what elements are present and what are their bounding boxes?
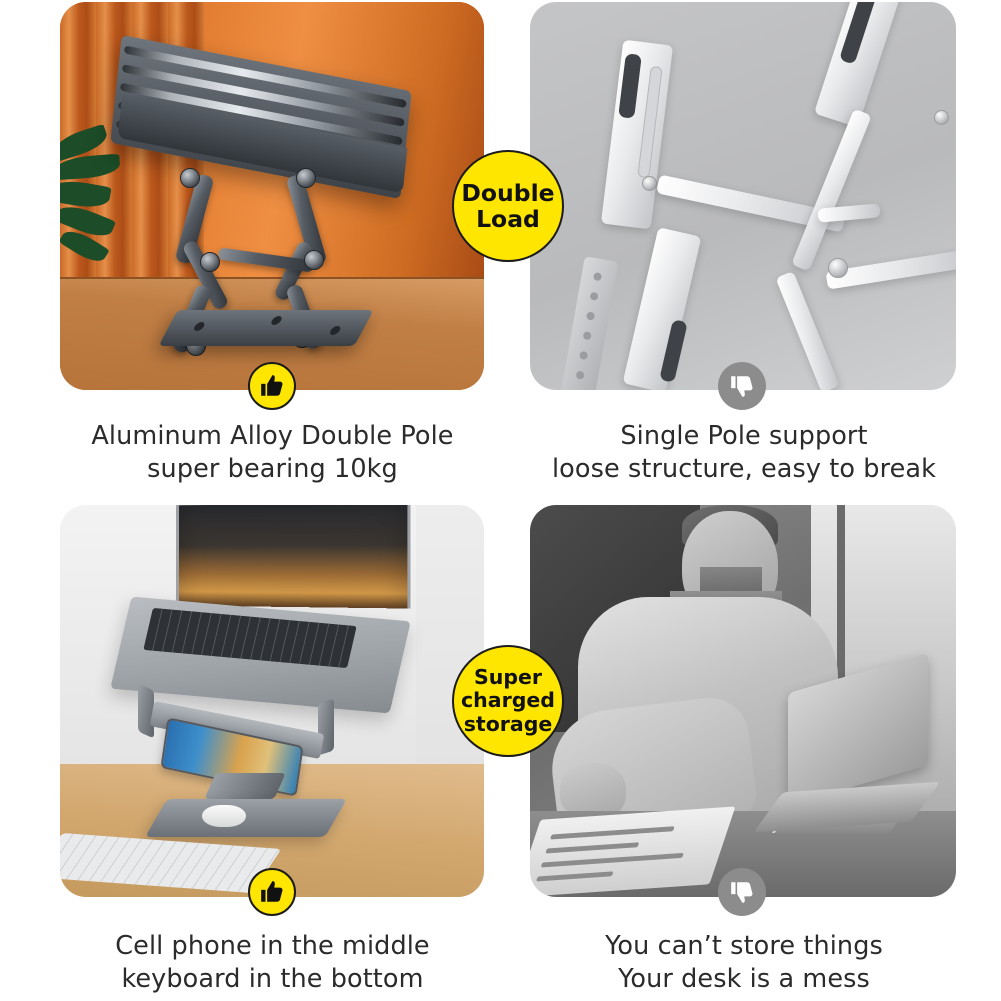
badge-double-load[interactable]: Double Load (452, 150, 564, 262)
photo-single-pole-stand-closeup (530, 2, 956, 390)
panel-bottom-left[interactable] (60, 505, 484, 897)
badge-storage-line1: Super (474, 665, 542, 689)
scattered-papers (530, 806, 735, 897)
caption-bottom-right-line1: You can’t store things (520, 930, 968, 963)
thumbs-down-icon[interactable] (718, 868, 766, 916)
thumbs-up-icon[interactable] (248, 868, 296, 916)
panel-top-right[interactable] (530, 2, 956, 390)
single-pole-diagonal-arm-right (791, 109, 872, 272)
thumbs-down-icon[interactable] (718, 362, 766, 410)
stand-hinge-top-right (296, 168, 316, 188)
badge-double-load-line2: Load (476, 205, 540, 233)
caption-top-right: Single Pole support loose structure, eas… (520, 420, 968, 485)
panel-bottom-right[interactable] (530, 505, 956, 897)
single-pole-pivot-pin-upper (642, 176, 657, 191)
photo-man-at-messy-desk (530, 505, 956, 897)
single-pole-leg-lower-right (775, 271, 839, 390)
caption-bottom-left: Cell phone in the middle keyboard in the… (50, 930, 495, 995)
caption-bottom-right-line2: Your desk is a mess (520, 963, 968, 996)
stand-lower-column (204, 773, 286, 799)
laptop-screen (176, 505, 410, 609)
caption-top-right-line1: Single Pole support (520, 420, 968, 453)
photo-plant (60, 128, 130, 278)
caption-top-right-line2: loose structure, easy to break (520, 453, 968, 486)
badge-double-load-line1: Double (461, 179, 554, 207)
photo-laptop-stand-with-phone-and-keyboard (60, 505, 484, 897)
single-pole-pivot-pin-upper-right (934, 110, 949, 125)
caption-bottom-right: You can’t store things Your desk is a me… (520, 930, 968, 995)
caption-top-left-line2: super bearing 10kg (50, 453, 495, 486)
infographic-board: Double Load Super charged storage (0, 0, 1001, 1001)
caption-bottom-left-line1: Cell phone in the middle (50, 930, 495, 963)
stand-hinge-mid-left (200, 252, 220, 272)
stand-base-plate (158, 310, 373, 346)
stand-base-plate (145, 799, 347, 837)
stand-hinge-top-left (180, 168, 200, 188)
single-pole-height-rail (560, 256, 619, 390)
photo-aluminum-double-pole-stand (60, 2, 484, 390)
caption-top-left-line1: Aluminum Alloy Double Pole (50, 420, 495, 453)
thumbs-up-icon[interactable] (248, 362, 296, 410)
badge-super-charged-storage[interactable]: Super charged storage (452, 645, 564, 757)
stand-hinge-mid-right (304, 250, 324, 270)
caption-bottom-left-line2: keyboard in the bottom (50, 963, 495, 996)
caption-top-left: Aluminum Alloy Double Pole super bearing… (50, 420, 495, 485)
earbuds-case (202, 805, 246, 827)
single-pole-center-pivot (828, 258, 848, 278)
badge-storage-line2: charged (461, 688, 555, 712)
badge-storage-line3: storage (464, 712, 553, 736)
panel-top-left[interactable] (60, 2, 484, 390)
